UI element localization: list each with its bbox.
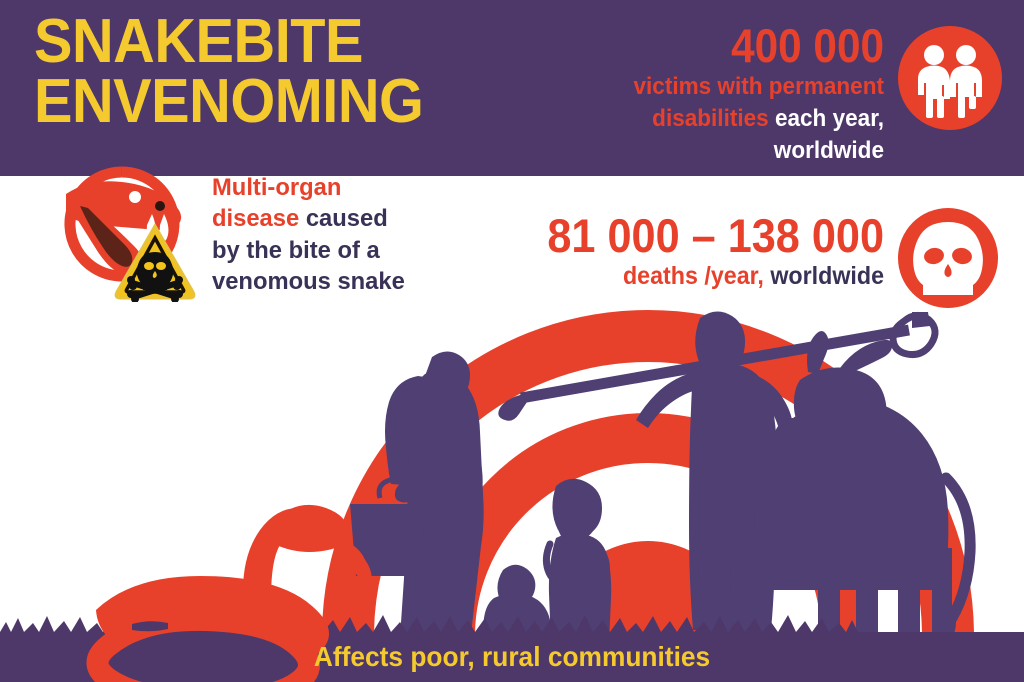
multi-organ-description: Multi-organ disease caused by the bite o… [212, 172, 472, 297]
multi-organ-highlight-2: disease [212, 205, 299, 232]
two-people-disability-icon [896, 24, 1004, 132]
stat-disabilities-line2-red: disabilities [652, 105, 769, 132]
stat-deaths-number: 81 000 – 138 000 [479, 212, 884, 260]
multi-organ-rest-3: venomous snake [212, 268, 405, 295]
multi-organ-rest-1: caused [306, 205, 388, 232]
footer-caption: Affects poor, rural communities [31, 641, 994, 673]
stat-deaths: 81 000 – 138 000 deaths /year, worldwide [444, 212, 884, 289]
stat-disabilities-line2-white: each year, [775, 105, 884, 132]
multi-organ-highlight-1: Multi-organ [212, 174, 341, 201]
stat-permanent-disabilities: 400 000 victims with permanent disabilit… [464, 22, 884, 166]
infographic-poster: SNAKEBITE ENVENOMING 400 000 victims wit… [0, 0, 1024, 682]
skull-crossbones-hazard-triangle-icon [113, 222, 197, 302]
stat-disabilities-number: 400 000 [506, 22, 884, 70]
stat-disabilities-line1: victims with permanent [633, 73, 884, 100]
skull-icon [896, 206, 1000, 310]
stat-disabilities-line3: worldwide [774, 137, 884, 164]
multi-organ-rest-2: by the bite of a [212, 237, 380, 264]
stat-deaths-caption-red: deaths /year, [623, 262, 764, 290]
stat-deaths-caption-purple: worldwide [770, 262, 884, 290]
